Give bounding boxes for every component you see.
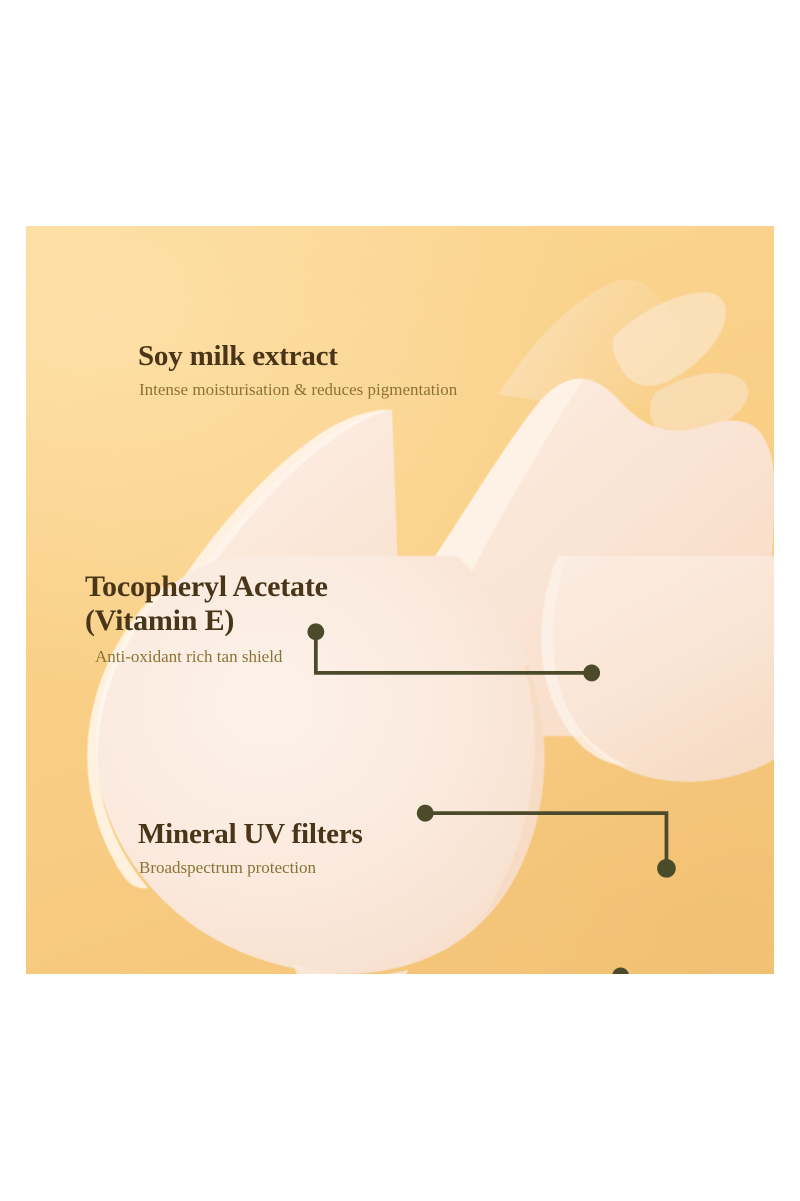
cream-swatch-right-lower: [506, 556, 774, 816]
callout-title-soy-milk-extract: Soy milk extract: [138, 340, 457, 373]
connector-start-dot-tocopheryl-acetate: [417, 805, 434, 822]
callout-subtitle-tocopheryl-acetate: Anti-oxidant rich tan shield: [95, 647, 328, 667]
connector-end-dot-tocopheryl-acetate: [657, 859, 676, 878]
ingredient-infographic-image: Soy milk extract Intense moisturisation …: [26, 226, 774, 974]
callout-mineral-uv-filters: Mineral UV filters Broadspectrum protect…: [138, 818, 363, 878]
callout-subtitle-mineral-uv-filters: Broadspectrum protection: [139, 858, 363, 878]
callout-tocopheryl-acetate: Tocopheryl Acetate (Vitamin E) Anti-oxid…: [85, 570, 328, 668]
connector-end-dot-soy-milk-extract: [583, 665, 600, 682]
callout-title-mineral-uv-filters: Mineral UV filters: [138, 818, 363, 851]
callout-soy-milk-extract: Soy milk extract Intense moisturisation …: [138, 340, 457, 400]
connector-start-dot-soy-milk-extract: [307, 623, 324, 640]
callout-title-tocopheryl-acetate: Tocopheryl Acetate (Vitamin E): [85, 570, 328, 638]
callout-subtitle-soy-milk-extract: Intense moisturisation & reduces pigment…: [139, 380, 457, 400]
